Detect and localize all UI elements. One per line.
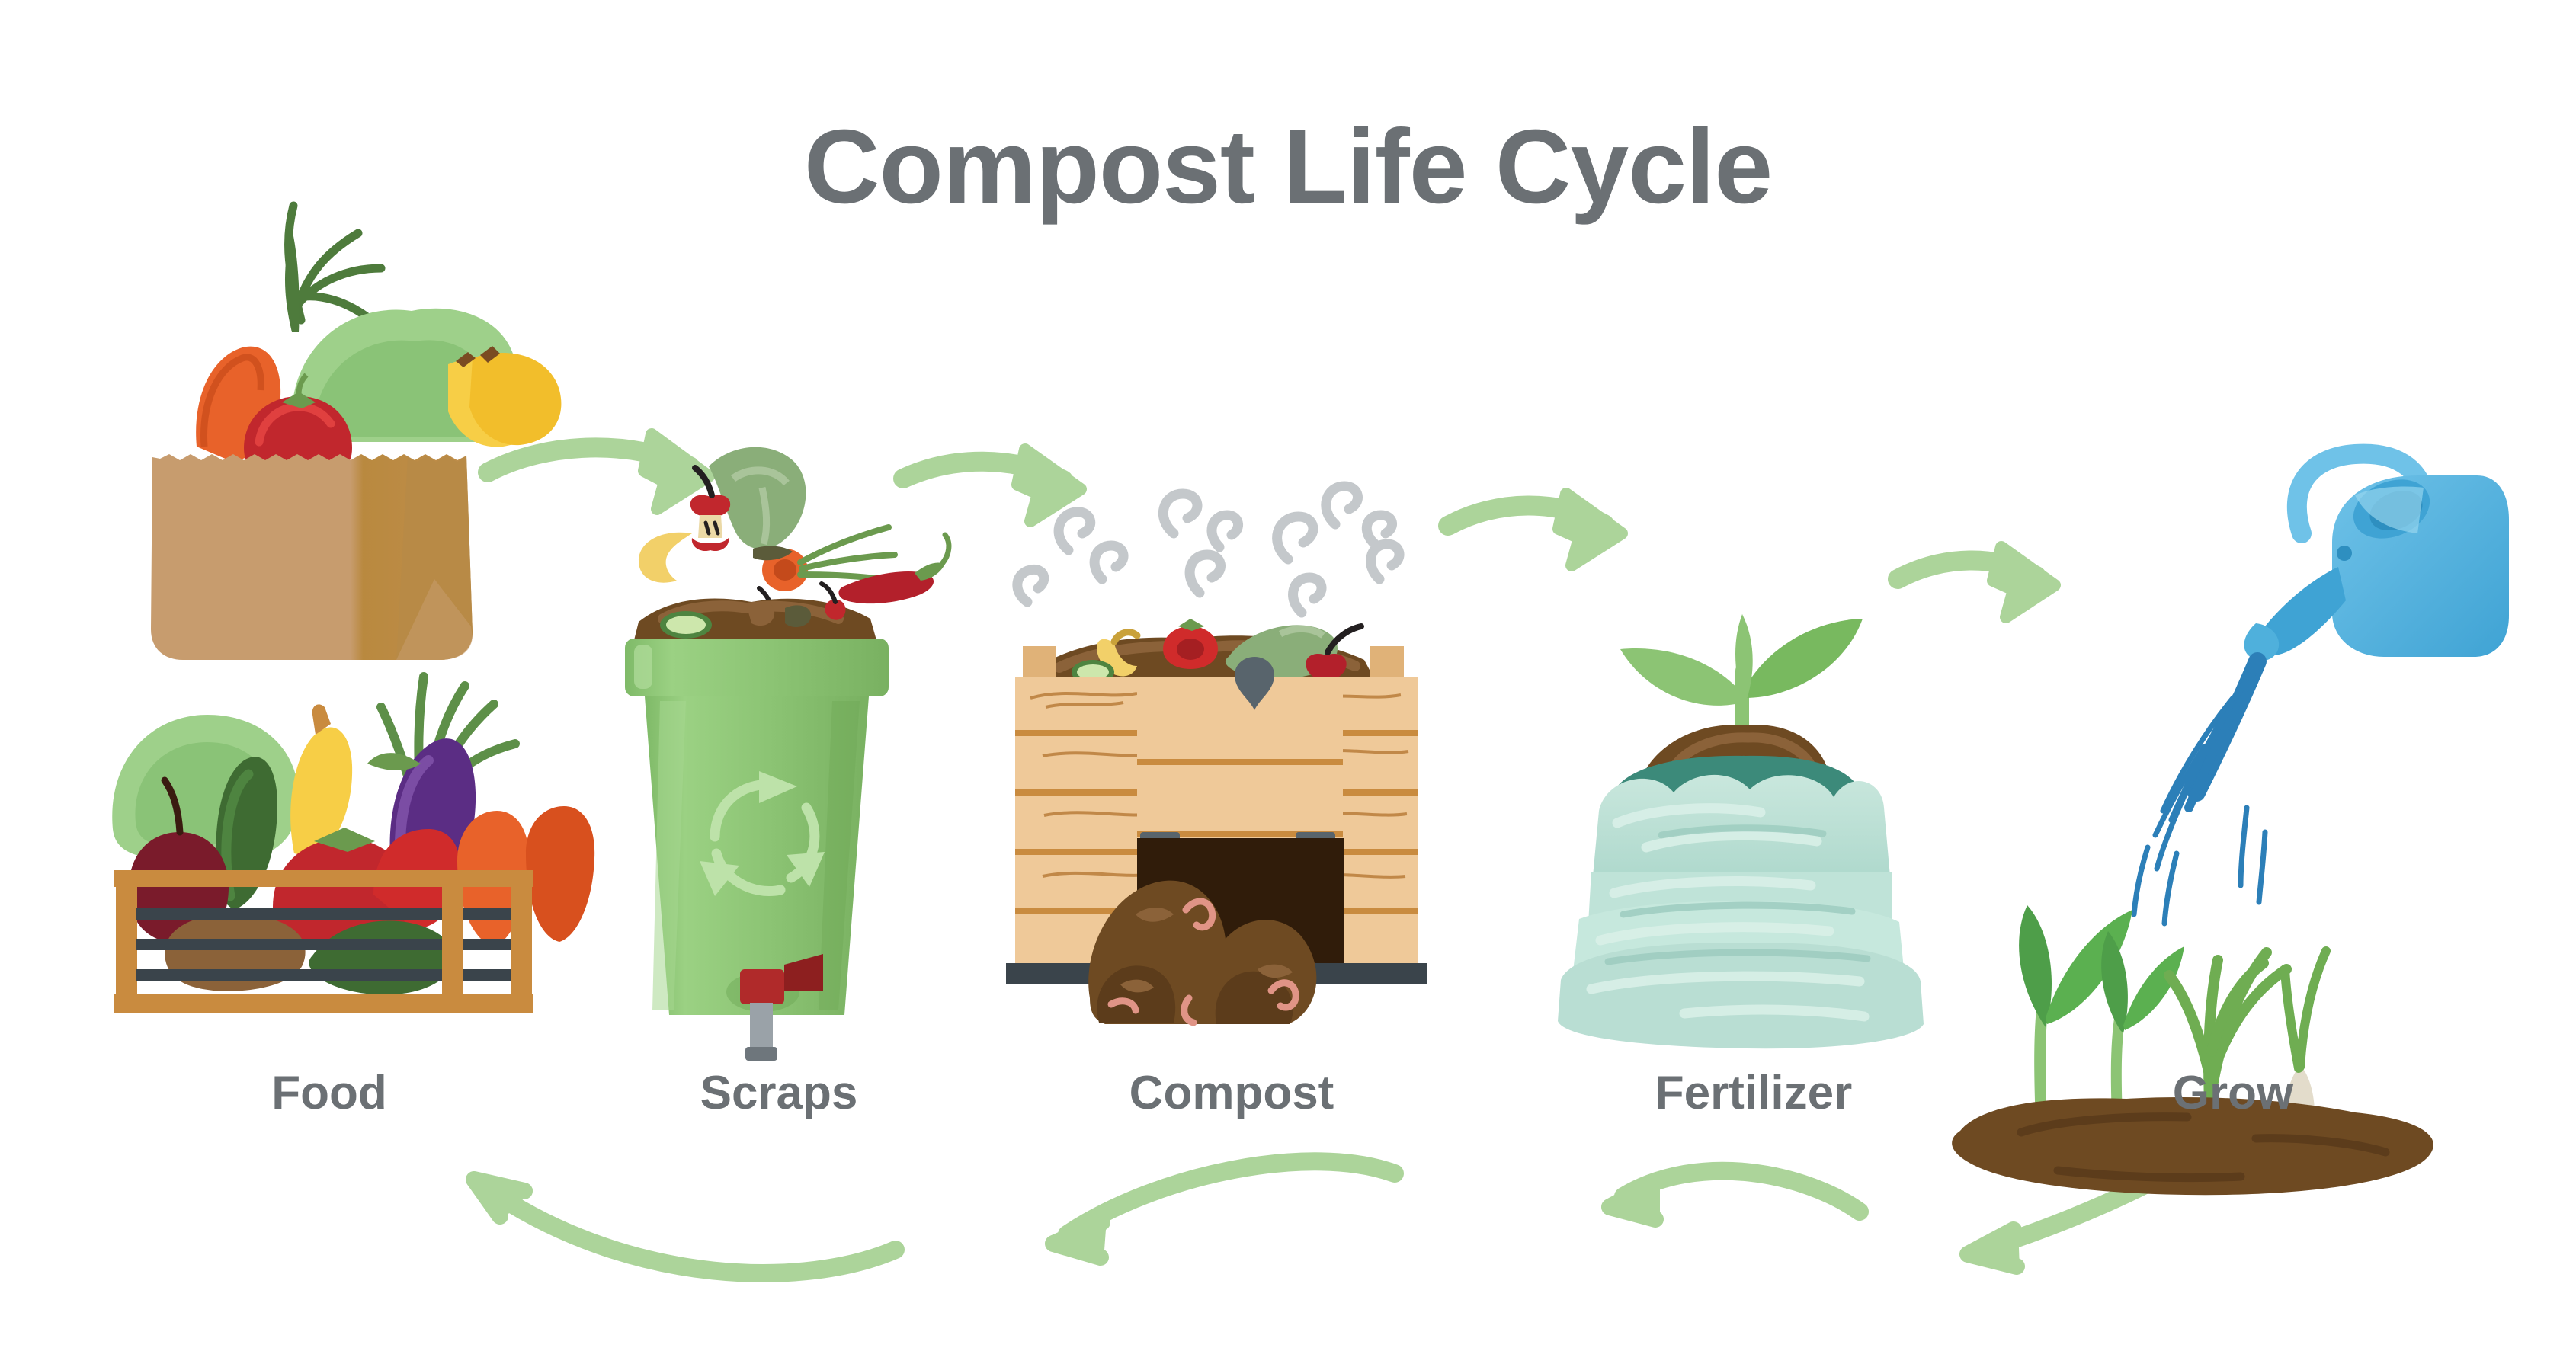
vegetable-crate-icon — [112, 677, 594, 1013]
arrow-food-to-scraps — [488, 434, 709, 509]
illustration-layer — [0, 0, 2576, 1367]
arrow-return-compost-to-scraps — [1050, 1161, 1395, 1260]
stage-label-fertilizer: Fertilizer — [1655, 1070, 1852, 1117]
infographic-canvas: Compost Life Cycle — [0, 0, 2576, 1367]
steam-icon — [1017, 486, 1399, 613]
arrow-compost-to-fertilizer — [1448, 494, 1622, 565]
stage-label-scraps: Scraps — [700, 1070, 858, 1117]
grocery-bag-icon — [151, 206, 561, 660]
arrow-return-fertilizer-to-compost — [1607, 1171, 1860, 1222]
green-compost-bin-icon — [625, 584, 889, 1061]
arrow-return-scraps-to-food — [473, 1177, 896, 1273]
arrow-scraps-to-compost — [903, 450, 1081, 521]
wooden-compost-bin-icon — [1006, 619, 1427, 1024]
stage-label-grow: Grow — [2173, 1070, 2293, 1117]
water-stream-icon — [2134, 661, 2265, 924]
seedlings-icon — [1952, 905, 2433, 1195]
stage-label-food: Food — [271, 1070, 387, 1117]
fertilizer-sack-icon — [1558, 614, 1924, 1048]
arrow-fertilizer-to-grow — [1898, 547, 2055, 617]
stage-label-compost: Compost — [1129, 1070, 1334, 1117]
watering-can-icon — [2244, 454, 2509, 661]
